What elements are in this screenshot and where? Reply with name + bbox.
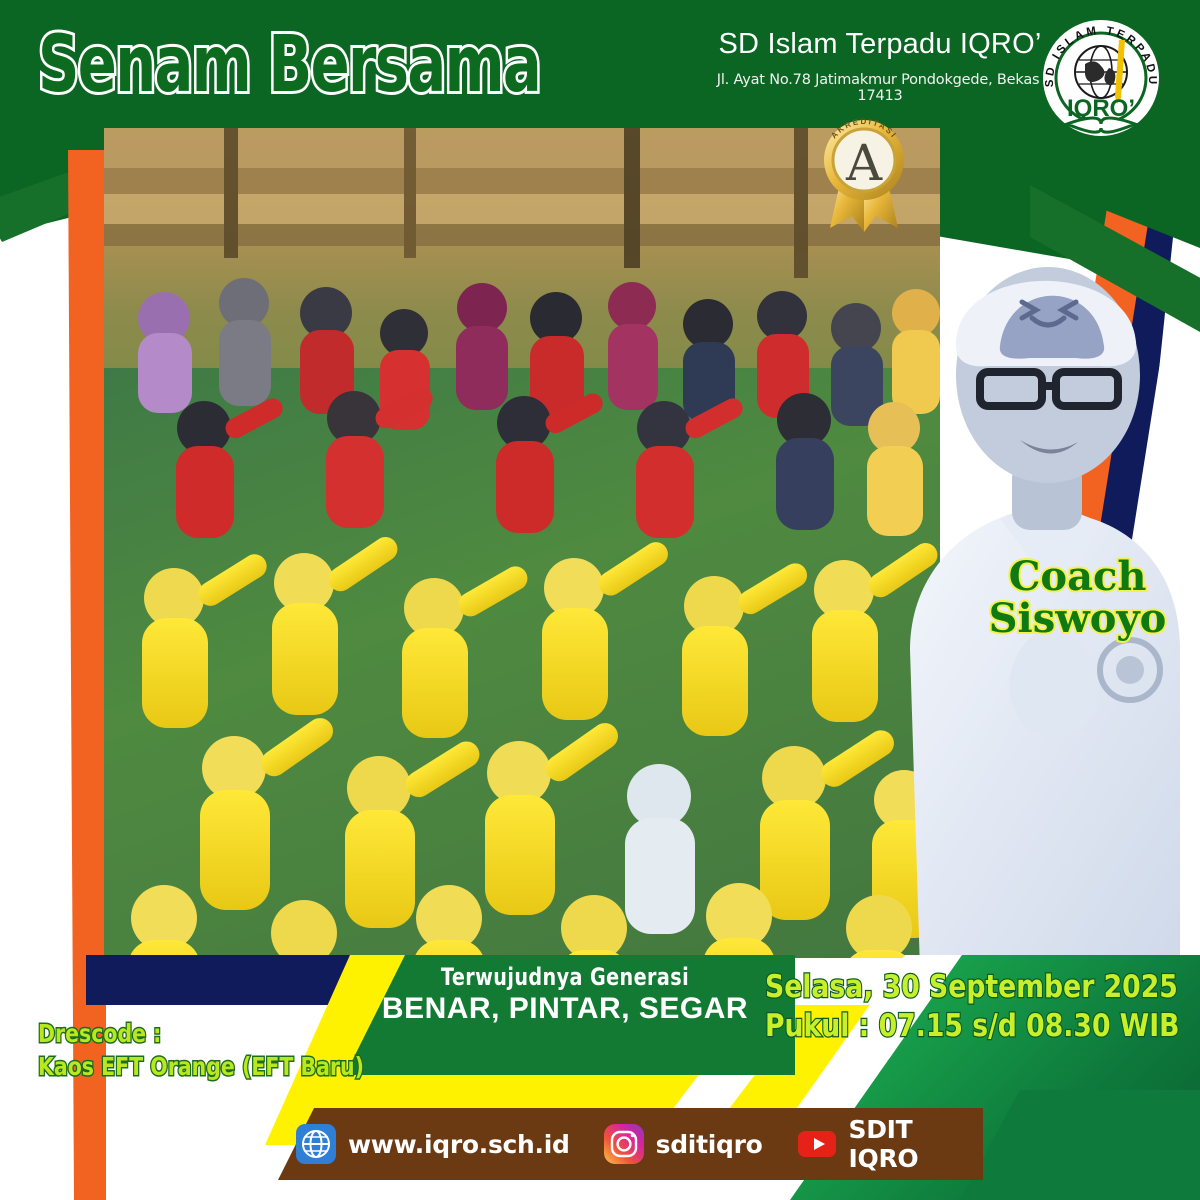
school-address: Jl. Ayat No.78 Jatimakmur Pondokgede, Be… (700, 72, 1060, 104)
coach-name-line2: Siswoyo (960, 598, 1195, 640)
footer-website-label: www.iqro.sch.id (348, 1130, 570, 1159)
school-logo: SD ISLAM TERPADU IQRO’ (1035, 12, 1167, 144)
footer-youtube-label: SDIT IQRO (849, 1115, 984, 1173)
schedule-text: Selasa, 30 September 2025 Pukul : 07.15 … (765, 968, 1135, 1046)
photo-crowd-illustration (104, 128, 940, 958)
globe-icon (296, 1124, 336, 1164)
accreditation-badge: AKREDITASI A (812, 104, 916, 232)
footer-item-instagram[interactable]: sditiqro (604, 1124, 763, 1164)
event-photo (104, 128, 940, 958)
dresscode-label: Drescode : (38, 1018, 366, 1051)
motto-line-2: BENAR, PINTAR, SEGAR (355, 992, 775, 1026)
motto-line-1: Terwujudnya Generasi (397, 963, 733, 991)
youtube-icon (797, 1124, 837, 1164)
page-title: Senam Bersama (38, 28, 540, 102)
dresscode-value: Kaos EFT Orange (EFT Baru) (38, 1051, 366, 1084)
schedule-time: Pukul : 07.15 s/d 08.30 WIB (765, 1007, 1135, 1046)
schedule-date: Selasa, 30 September 2025 (765, 968, 1135, 1007)
footer-links: www.iqro.sch.id sditiqro (278, 1108, 983, 1180)
footer-item-website[interactable]: www.iqro.sch.id (296, 1124, 570, 1164)
school-name: SD Islam Terpadu IQRO’ (700, 28, 1060, 61)
footer-item-youtube[interactable]: SDIT IQRO (797, 1115, 984, 1173)
coach-portrait (880, 110, 1200, 970)
accreditation-grade: A (845, 134, 883, 192)
instagram-icon (604, 1124, 644, 1164)
coach-name-line1: Coach (960, 556, 1195, 598)
footer-instagram-label: sditiqro (656, 1130, 763, 1159)
logo-wordmark: IQRO’ (1067, 95, 1135, 122)
coach-name: Coach Siswoyo (960, 556, 1195, 640)
dresscode-text: Drescode : Kaos EFT Orange (EFT Baru) (38, 1018, 366, 1083)
poster-canvas: SD Islam Terpadu IQRO’ Jl. Ayat No.78 Ja… (0, 0, 1200, 1200)
